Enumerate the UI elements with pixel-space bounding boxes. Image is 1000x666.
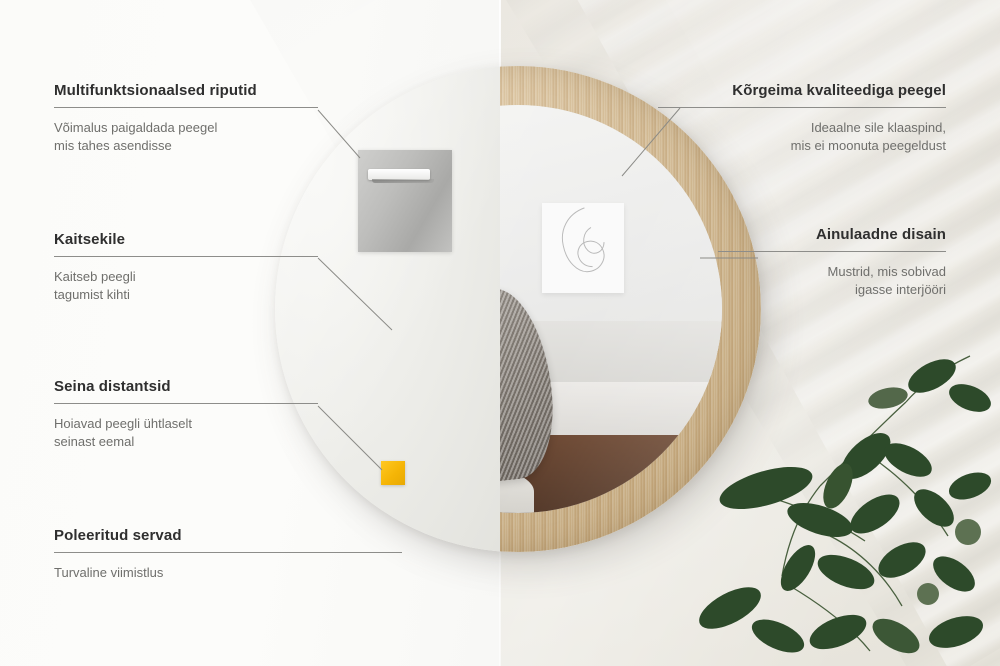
- callout-rule: [54, 403, 318, 404]
- callout-rule: [658, 107, 946, 108]
- callout-kaitsekile: Kaitsekile Kaitseb peegli tagumist kihti: [54, 231, 318, 304]
- callout-description: Võimalus paigaldada peegel mis tahes ase…: [54, 119, 318, 155]
- callout-title: Ainulaadne disain: [718, 226, 946, 243]
- callout-rule: [54, 256, 318, 257]
- callout-seina-distantsid: Seina distantsid Hoiavad peegli ühtlasel…: [54, 378, 318, 451]
- foliage-decoration: [670, 336, 1000, 666]
- callout-rule: [54, 552, 402, 553]
- callout-ainulaadne-disain: Ainulaadne disain Mustrid, mis sobivad i…: [718, 226, 946, 299]
- hanger-plate: [358, 150, 452, 252]
- callout-poleeritud-servad: Poleeritud servad Turvaline viimistlus: [54, 527, 402, 582]
- callout-description: Turvaline viimistlus: [54, 564, 402, 582]
- callout-description: Kaitseb peegli tagumist kihti: [54, 268, 318, 304]
- callout-description: Mustrid, mis sobivad igasse interjööri: [718, 263, 946, 299]
- hanger-slot-shadow: [372, 179, 434, 183]
- callout-title: Kaitsekile: [54, 231, 318, 248]
- callout-korgeima-kvaliteediga-peegel: Kõrgeima kvaliteediga peegel Ideaalne si…: [658, 82, 946, 155]
- callout-multifunktsionaalsed-riputid: Multifunktsionaalsed riputid Võimalus pa…: [54, 82, 318, 155]
- callout-title: Seina distantsid: [54, 378, 318, 395]
- callout-rule: [54, 107, 318, 108]
- wall-spacer: [381, 461, 405, 485]
- wall-art-line-drawing: [542, 203, 624, 293]
- infographic-canvas: Multifunktsionaalsed riputid Võimalus pa…: [0, 0, 1000, 666]
- callout-description: Ideaalne sile klaaspind, mis ei moonuta …: [658, 119, 946, 155]
- callout-description: Hoiavad peegli ühtlaselt seinast eemal: [54, 415, 318, 451]
- callout-rule: [718, 251, 946, 252]
- callout-title: Kõrgeima kvaliteediga peegel: [658, 82, 946, 99]
- callout-title: Poleeritud servad: [54, 527, 402, 544]
- callout-title: Multifunktsionaalsed riputid: [54, 82, 318, 99]
